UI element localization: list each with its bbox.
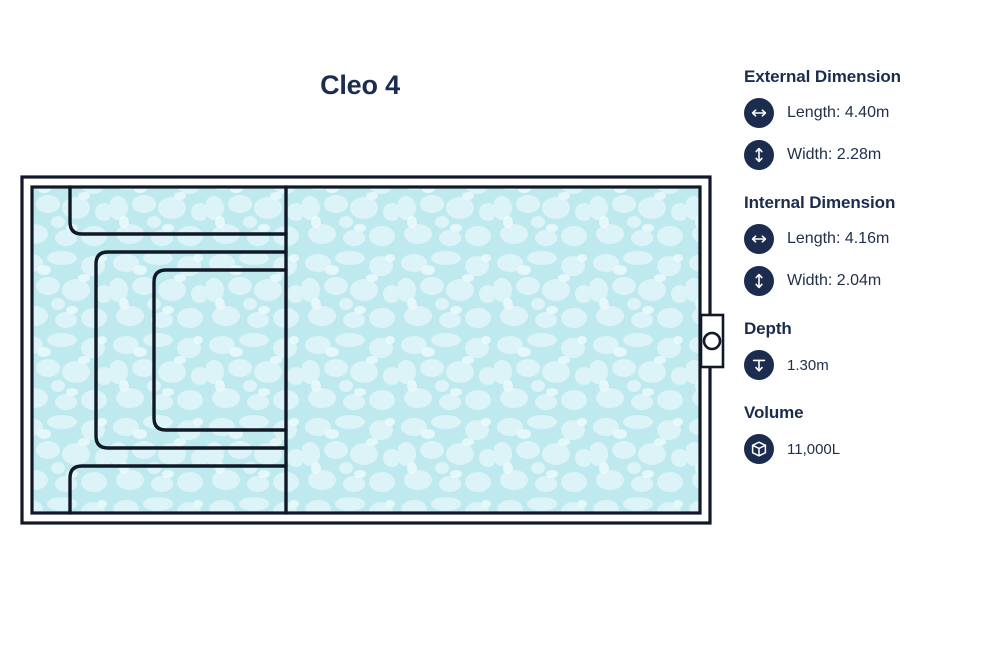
horizontal-double-arrow-icon [744, 98, 774, 128]
spec-row-external-width: Width: 2.28m [744, 138, 992, 172]
spec-group-heading: Volume [744, 402, 992, 424]
spec-row-label: Length: 4.40m [787, 105, 889, 121]
pool-floorplan-diagram [14, 168, 726, 532]
skimmer-box [701, 315, 723, 367]
spec-row-label: Width: 2.28m [787, 147, 881, 163]
spec-row-external-length: Length: 4.40m [744, 96, 992, 130]
page-title: Cleo 4 [0, 72, 720, 99]
spec-row-internal-length: Length: 4.16m [744, 222, 992, 256]
cube-icon [744, 434, 774, 464]
spec-group-heading: Depth [744, 318, 992, 340]
spec-row-label: Width: 2.04m [787, 273, 881, 289]
spec-group-internal-dimension: Internal Dimension Length: 4.16m [744, 192, 992, 298]
spec-row-label: 1.30m [787, 358, 829, 373]
spec-group-volume: Volume 11,000L [744, 402, 992, 466]
horizontal-double-arrow-icon [744, 224, 774, 254]
depth-down-arrow-icon [744, 350, 774, 380]
spec-row-volume-value: 11,000L [744, 432, 992, 466]
vertical-double-arrow-icon [744, 140, 774, 170]
spec-panel: External Dimension Length: 4.40m [744, 66, 992, 486]
spec-group-external-dimension: External Dimension Length: 4.40m [744, 66, 992, 172]
spec-row-label: 11,000L [787, 442, 840, 457]
spec-group-heading: External Dimension [744, 66, 992, 88]
pool-water [32, 187, 700, 513]
vertical-double-arrow-icon [744, 266, 774, 296]
spec-group-depth: Depth 1.30m [744, 318, 992, 382]
spec-row-depth-value: 1.30m [744, 348, 992, 382]
spec-row-internal-width: Width: 2.04m [744, 264, 992, 298]
spec-group-heading: Internal Dimension [744, 192, 992, 214]
spec-row-label: Length: 4.16m [787, 231, 889, 247]
